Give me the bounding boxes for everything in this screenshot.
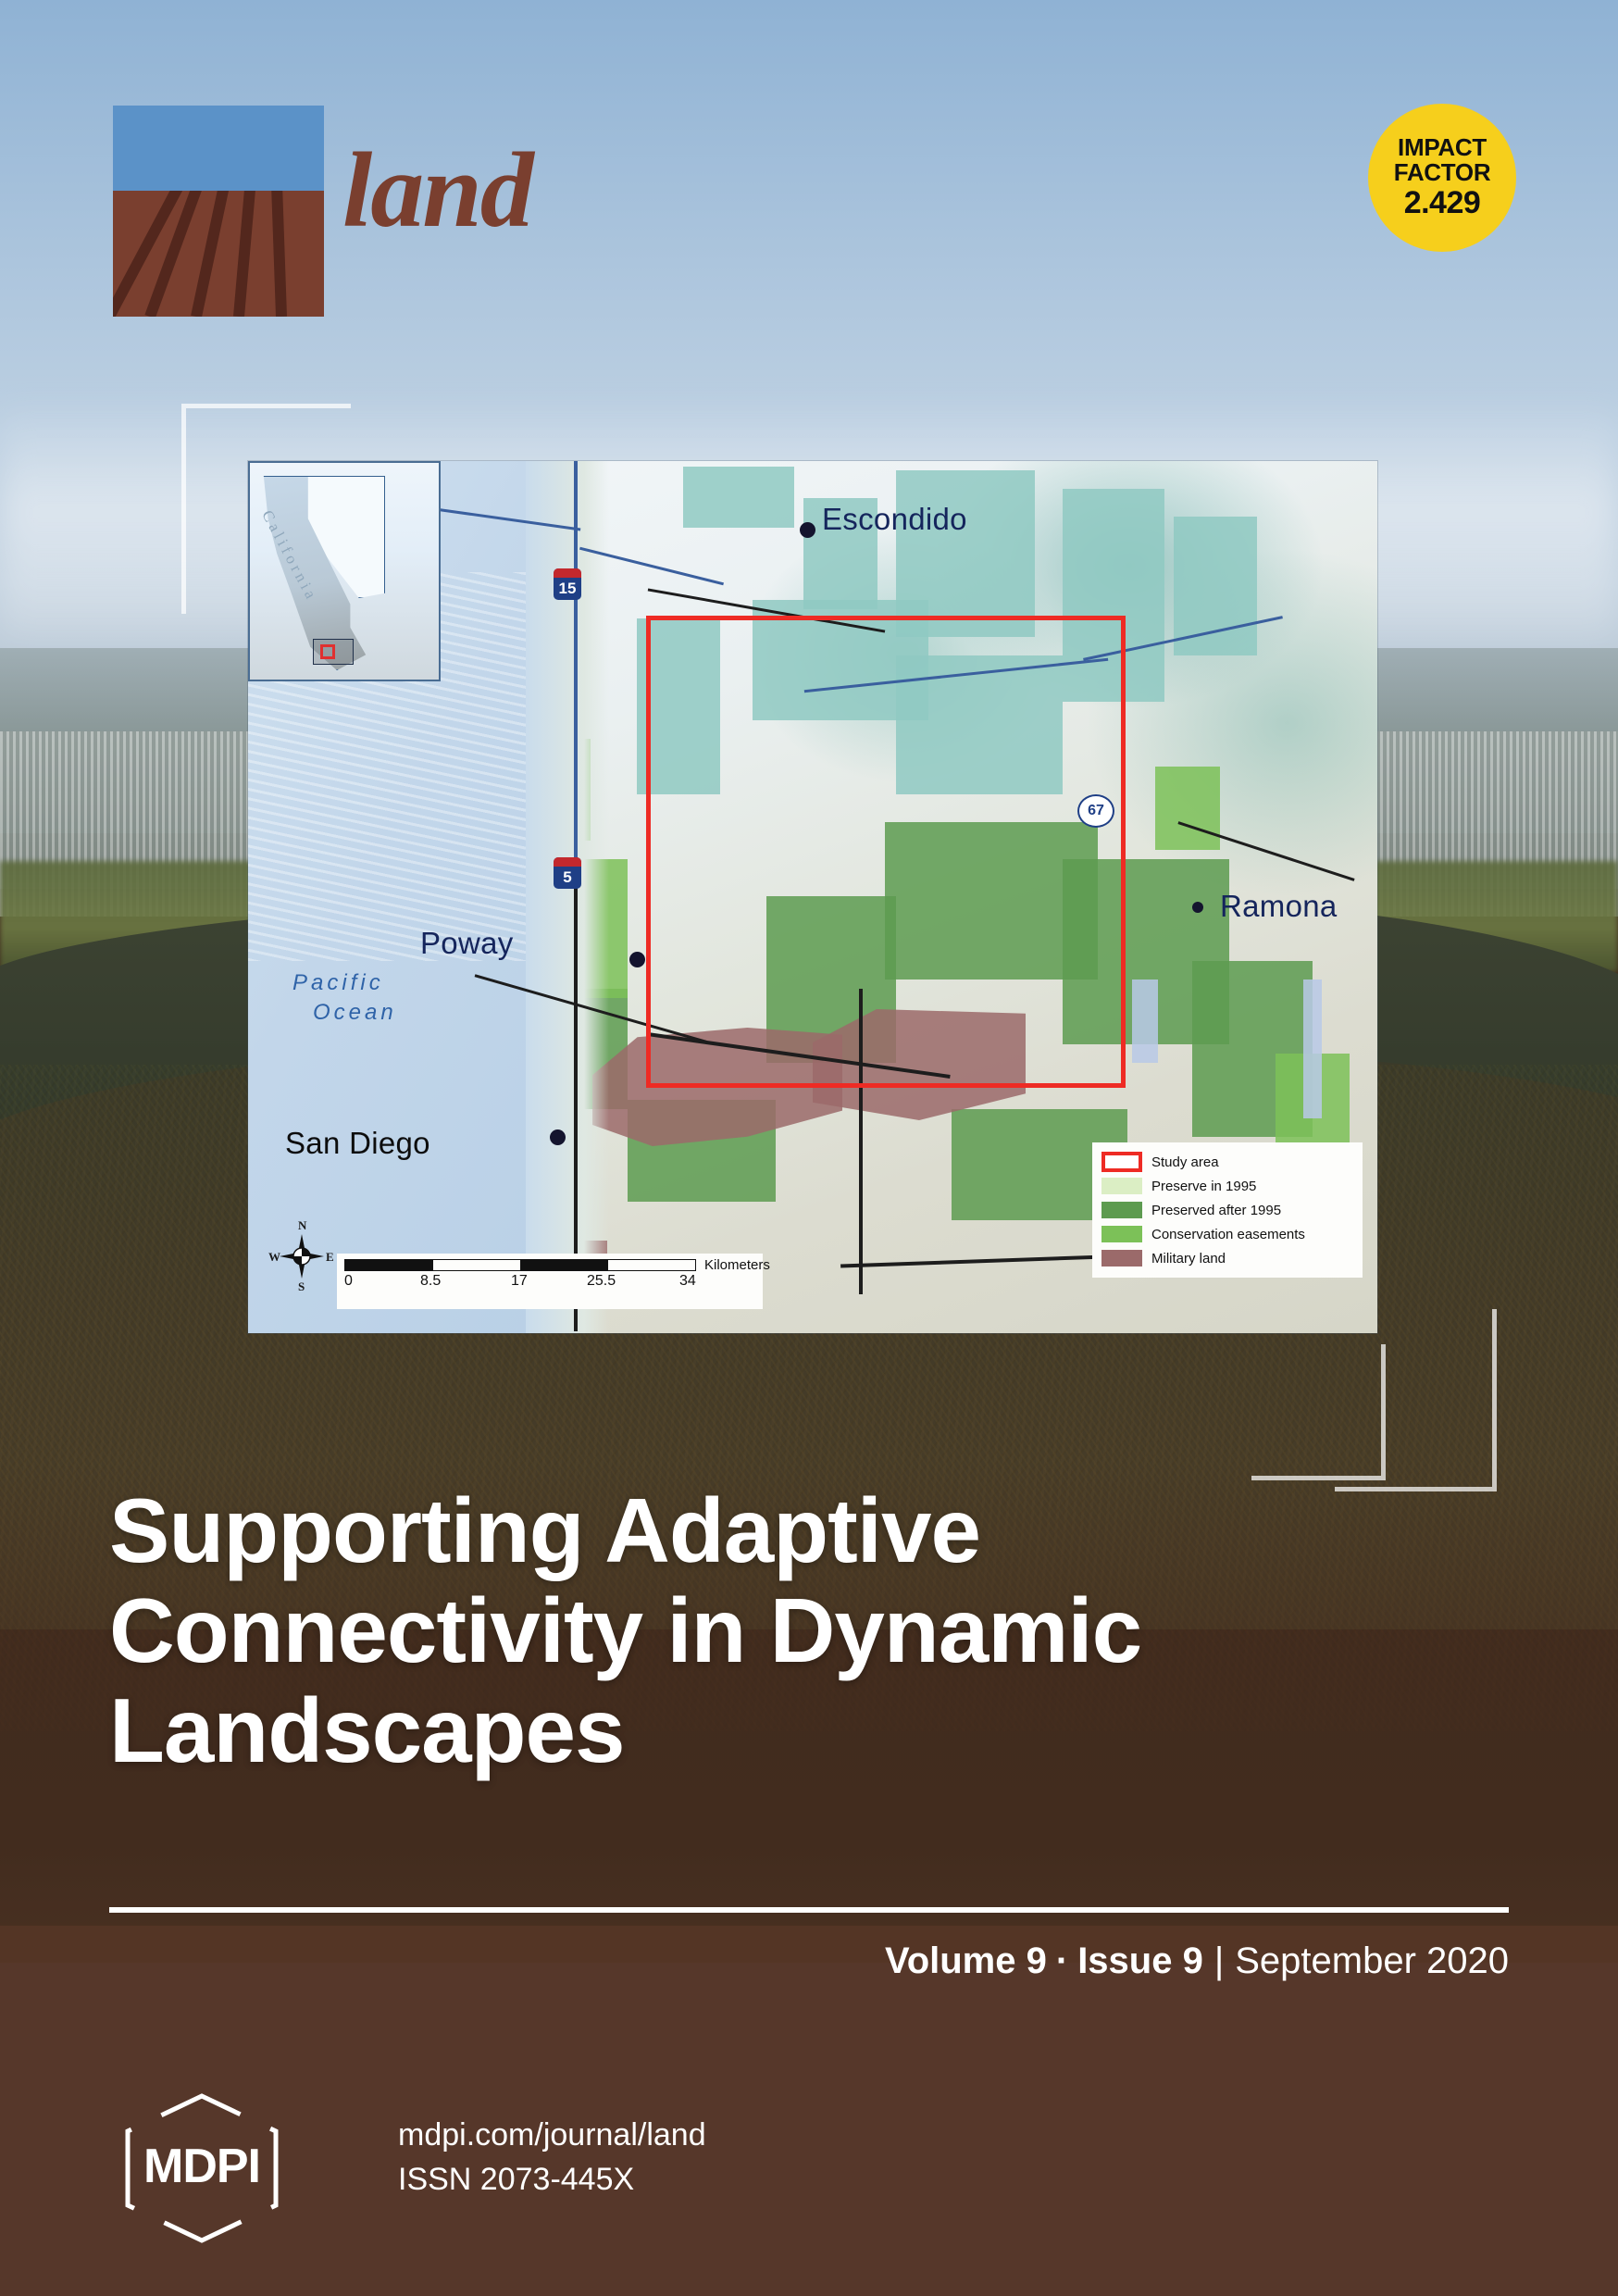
map-patch-preserve bbox=[1174, 517, 1257, 655]
decorative-bracket-bottom-right-outer bbox=[1335, 1309, 1497, 1491]
map-legend: Study area Preserve in 1995 Preserved af… bbox=[1092, 1142, 1363, 1278]
scale-bar-segment bbox=[608, 1260, 696, 1270]
map-scale-bar: Kilometers 0 8.5 17 25.5 34 bbox=[337, 1254, 763, 1309]
impact-badge-line1: IMPACT bbox=[1398, 135, 1487, 160]
city-dot-poway bbox=[629, 952, 645, 967]
map-patch-conservation-easement bbox=[1155, 767, 1220, 850]
legend-item: Preserved after 1995 bbox=[1101, 1198, 1353, 1222]
city-dot-san-diego bbox=[550, 1129, 566, 1145]
journal-issn: ISSN 2073-445X bbox=[398, 2157, 706, 2202]
legend-swatch-military-land bbox=[1101, 1250, 1142, 1267]
legend-item: Military land bbox=[1101, 1246, 1353, 1270]
logo-sky-band bbox=[113, 106, 324, 191]
scale-tick-25.5: 25.5 bbox=[587, 1273, 616, 1290]
issue-volume: Volume 9 bbox=[885, 1940, 1047, 1981]
highway-shield-i5: 5 bbox=[554, 857, 581, 889]
issue-dot: · bbox=[1047, 1940, 1077, 1981]
scale-bar-track: Kilometers bbox=[344, 1259, 696, 1271]
map-patch-preserve bbox=[683, 467, 794, 528]
highway-shield-sr67: 67 bbox=[1077, 794, 1114, 828]
inset-states-layer: California bbox=[250, 463, 439, 680]
title-divider-rule bbox=[109, 1907, 1509, 1913]
inset-study-area-marker bbox=[320, 644, 335, 659]
mdpi-wordmark: MDPI bbox=[135, 2142, 268, 2190]
issue-date: September 2020 bbox=[1235, 1940, 1509, 1981]
scale-tick-8.5: 8.5 bbox=[420, 1273, 441, 1290]
map-inset-california: California bbox=[248, 461, 441, 681]
ocean-label-line2: Ocean bbox=[313, 998, 397, 1028]
scale-tick-0: 0 bbox=[344, 1273, 353, 1290]
highway-shield-i15: 15 bbox=[554, 568, 581, 600]
map-compass-rose: N S E W bbox=[270, 1222, 333, 1291]
ocean-label: Pacific Ocean bbox=[292, 968, 397, 1029]
journal-title-wordmark: land bbox=[342, 137, 532, 244]
cover-title-line1: Supporting Adaptive bbox=[109, 1481, 1498, 1581]
legend-label-preserve-1995: Preserve in 1995 bbox=[1151, 1179, 1256, 1194]
impact-badge-line2: FACTOR bbox=[1394, 160, 1491, 185]
compass-label-north: N bbox=[298, 1218, 306, 1233]
city-label-san-diego: San Diego bbox=[285, 1126, 430, 1161]
issue-number: Issue 9 bbox=[1077, 1940, 1203, 1981]
cover-title: Supporting Adaptive Connectivity in Dyna… bbox=[109, 1481, 1498, 1780]
scale-bar-ticks: 0 8.5 17 25.5 34 bbox=[344, 1273, 733, 1293]
legend-label-military-land: Military land bbox=[1151, 1251, 1226, 1267]
compass-star-icon bbox=[278, 1232, 326, 1280]
city-label-ramona: Ramona bbox=[1220, 889, 1338, 924]
scale-bar-segment bbox=[520, 1260, 608, 1270]
cover-title-line2: Connectivity in Dynamic bbox=[109, 1581, 1498, 1681]
issue-info: Volume 9·Issue 9|September 2020 bbox=[109, 1940, 1509, 1982]
legend-label-study-area: Study area bbox=[1151, 1154, 1219, 1170]
impact-factor-badge: IMPACT FACTOR 2.429 bbox=[1368, 104, 1516, 252]
mdpi-logo: MDPI bbox=[118, 2090, 285, 2246]
issue-separator: | bbox=[1203, 1940, 1235, 1982]
scale-bar-unit: Kilometers bbox=[704, 1257, 770, 1273]
map-reservoir bbox=[1303, 980, 1322, 1118]
legend-label-preserved-after-1995: Preserved after 1995 bbox=[1151, 1203, 1281, 1218]
scale-bar-segment bbox=[345, 1260, 433, 1270]
legend-label-conservation-easements: Conservation easements bbox=[1151, 1227, 1305, 1242]
impact-factor-value: 2.429 bbox=[1404, 187, 1481, 219]
compass-label-south: S bbox=[298, 1279, 305, 1294]
city-label-poway: Poway bbox=[420, 926, 514, 961]
map-road bbox=[574, 637, 578, 868]
logo-field-band bbox=[113, 191, 324, 317]
legend-swatch-preserved-after-1995 bbox=[1101, 1202, 1142, 1218]
city-dot-escondido bbox=[800, 522, 815, 538]
legend-swatch-study-area bbox=[1101, 1152, 1142, 1172]
city-label-escondido: Escondido bbox=[822, 502, 967, 537]
compass-label-west: W bbox=[268, 1250, 280, 1265]
scale-tick-34: 34 bbox=[679, 1273, 696, 1290]
scale-bar-segment bbox=[433, 1260, 521, 1270]
legend-item: Conservation easements bbox=[1101, 1222, 1353, 1246]
map-road bbox=[574, 461, 578, 637]
legend-item: Study area bbox=[1101, 1150, 1353, 1174]
journal-url[interactable]: mdpi.com/journal/land bbox=[398, 2113, 706, 2157]
scale-tick-17: 17 bbox=[511, 1273, 528, 1290]
cover-map-figure: 15 5 8 67 Escondido Poway Ramona San Die… bbox=[248, 461, 1377, 1333]
footer-links: mdpi.com/journal/land ISSN 2073-445X bbox=[398, 2113, 706, 2202]
city-dot-ramona bbox=[1192, 902, 1203, 913]
legend-swatch-conservation-easements bbox=[1101, 1226, 1142, 1242]
map-reservoir bbox=[1132, 980, 1158, 1063]
legend-item: Preserve in 1995 bbox=[1101, 1174, 1353, 1198]
land-field-logo bbox=[113, 106, 324, 317]
cover-title-line3: Landscapes bbox=[109, 1681, 1498, 1781]
map-study-area-box bbox=[646, 616, 1126, 1088]
legend-swatch-preserve-1995 bbox=[1101, 1178, 1142, 1194]
compass-label-east: E bbox=[326, 1250, 334, 1265]
ocean-label-line1: Pacific bbox=[292, 968, 397, 998]
